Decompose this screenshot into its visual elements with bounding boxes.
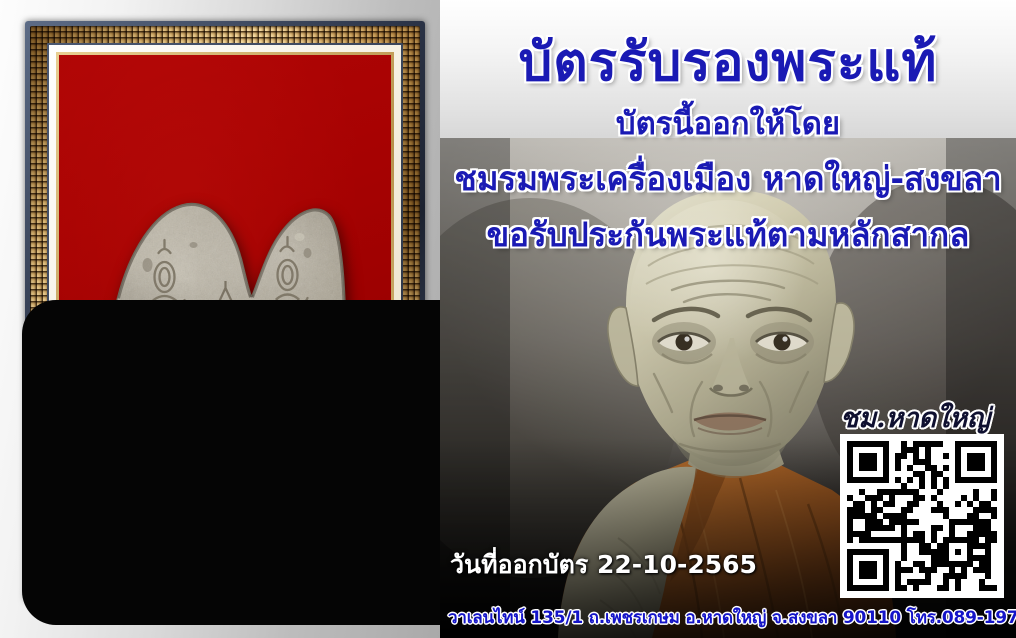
- issuer-intro-line: บัตรนี้ออกให้โดย: [440, 98, 1016, 148]
- right-panel: บัตรรับรองพระแท้ บัตรนี้ออกให้โดย ชมรมพร…: [440, 0, 1016, 638]
- certificate-card: บัตรรับรองพระแท้ บัตรนี้ออกให้โดย ชมรมพร…: [0, 0, 1016, 638]
- handwritten-signature: ชม.หาดใหญ่: [840, 396, 990, 439]
- qr-code-canvas: [847, 441, 997, 591]
- issue-date-text: วันที่ออกบัตร 22-10-2565: [450, 545, 757, 585]
- guarantee-line: ขอรับประกันพระแท้ตามหลักสากล: [440, 208, 1016, 261]
- issuer-name-line: ชมรมพระเครื่องเมือง หาดใหญ่-สงขลา: [440, 152, 1016, 205]
- shop-address-line: วาเลนไทน์ 135/1 ถ.เพชรเกษม อ.หาดใหญ่ จ.ส…: [448, 604, 1014, 631]
- page-title: บัตรรับรองพระแท้: [440, 20, 1016, 104]
- qr-code[interactable]: [840, 434, 1004, 598]
